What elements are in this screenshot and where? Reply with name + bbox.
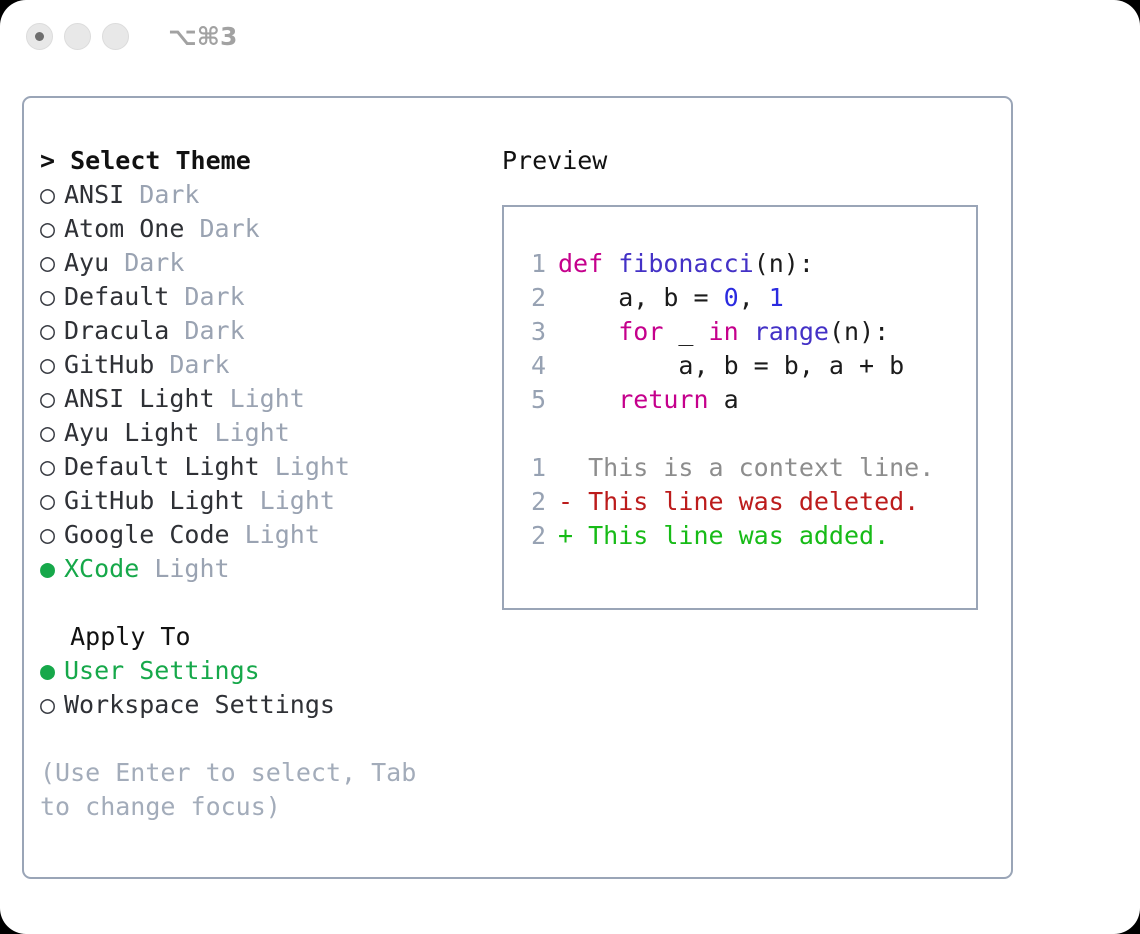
line-number: 5 [520,383,546,417]
code-token: (n): [829,317,889,346]
traffic-light-buttons [26,23,129,50]
diff-line-add: 2+ This line was added. [520,519,970,553]
theme-option-tag: Light [230,520,320,549]
select-theme-header: > Select Theme [40,144,480,178]
diff-sample: 1 This is a context line.2- This line wa… [520,451,970,553]
radio-unselected-icon: ○ [40,246,64,280]
select-theme-title-spacer [55,146,70,175]
theme-option-tag: Light [260,452,350,481]
theme-option-default-light[interactable]: ○Default Light Light [40,450,480,484]
line-number: 3 [520,315,546,349]
radio-selected-icon: ● [40,552,64,586]
radio-unselected-icon: ○ [40,212,64,246]
theme-option-label: GitHub [64,350,154,379]
theme-option-tag: Dark [169,282,244,311]
code-line: 4 a, b = b, a + b [520,349,970,383]
theme-option-label: Ayu Light [64,418,199,447]
main-panel: > Select Theme ○ANSI Dark○Atom One Dark○… [22,96,1013,879]
apply-option-label: User Settings [64,656,260,685]
theme-option-github[interactable]: ○GitHub Dark [40,348,480,382]
line-number: 1 [520,451,546,485]
theme-option-label: ANSI [64,180,124,209]
line-number: 1 [520,247,546,281]
line-number: 2 [520,485,546,519]
theme-option-tag: Dark [124,180,199,209]
caret-icon: > [40,146,55,175]
code-token: , [739,283,769,312]
radio-unselected-icon: ○ [40,280,64,314]
radio-unselected-icon: ○ [40,416,64,450]
active-indicator-icon [35,32,44,41]
apply-option-workspace-settings[interactable]: ○Workspace Settings [40,688,480,722]
diff-line-text: - This line was deleted. [558,487,919,516]
theme-option-tag: Light [139,554,229,583]
theme-option-atom-one[interactable]: ○Atom One Dark [40,212,480,246]
code-token: a, b = b, a + b [558,351,904,380]
preview-title: Preview [502,144,997,178]
preview-column: Preview [502,144,997,178]
diff-line-ctx: 1 This is a context line. [520,451,970,485]
line-number: 2 [520,281,546,315]
radio-unselected-icon: ○ [40,314,64,348]
code-token: 0 [724,283,739,312]
theme-option-ayu[interactable]: ○Ayu Dark [40,246,480,280]
code-token [739,317,754,346]
theme-option-label: Default Light [64,452,260,481]
radio-unselected-icon: ○ [40,518,64,552]
theme-option-google-code[interactable]: ○Google Code Light [40,518,480,552]
apply-option-user-settings[interactable]: ●User Settings [40,654,480,688]
code-token: in [709,317,739,346]
code-line: 2 a, b = 0, 1 [520,281,970,315]
theme-selector-column: > Select Theme ○ANSI Dark○Atom One Dark○… [40,144,480,824]
theme-option-label: Google Code [64,520,230,549]
radio-unselected-icon: ○ [40,348,64,382]
theme-option-label: GitHub Light [64,486,245,515]
code-line: 5 return a [520,383,970,417]
theme-option-ansi[interactable]: ○ANSI Dark [40,178,480,212]
section-spacer [40,586,480,620]
theme-option-label: XCode [64,554,139,583]
radio-unselected-icon: ○ [40,688,64,722]
theme-option-default[interactable]: ○Default Dark [40,280,480,314]
theme-option-label: ANSI Light [64,384,215,413]
code-token [558,385,618,414]
code-token: return [618,385,708,414]
code-line: 3 for _ in range(n): [520,315,970,349]
code-token: a, b = [558,283,724,312]
window-maximize-button[interactable] [102,23,129,50]
theme-list: ○ANSI Dark○Atom One Dark○Ayu Dark○Defaul… [40,178,480,586]
apply-to-header: Apply To [40,620,480,654]
code-token: fibonacci [618,249,753,278]
theme-option-github-light[interactable]: ○GitHub Light Light [40,484,480,518]
preview-box: 1def fibonacci(n):2 a, b = 0, 13 for _ i… [502,205,978,610]
theme-option-label: Default [64,282,169,311]
theme-option-label: Dracula [64,316,169,345]
theme-option-tag: Light [245,486,335,515]
code-token: _ [663,317,708,346]
code-preview-area: 1def fibonacci(n):2 a, b = 0, 13 for _ i… [520,247,970,553]
title-bar: ⌥⌘3 [0,0,1140,80]
apply-to-list: ●User Settings○Workspace Settings [40,654,480,722]
theme-option-tag: Dark [109,248,184,277]
app-window: ⌥⌘3 > Select Theme ○ANSI Dark○Atom One D… [0,0,1140,934]
theme-option-tag: Light [215,384,305,413]
radio-unselected-icon: ○ [40,178,64,212]
code-token [558,317,618,346]
diff-line-text: This is a context line. [558,453,934,482]
line-number: 2 [520,519,546,553]
radio-unselected-icon: ○ [40,484,64,518]
radio-selected-icon: ● [40,654,64,688]
diff-line-text: + This line was added. [558,521,889,550]
diff-line-del: 2- This line was deleted. [520,485,970,519]
apply-to-title: Apply To [70,622,190,651]
select-theme-title: Select Theme [70,146,251,175]
theme-option-dracula[interactable]: ○Dracula Dark [40,314,480,348]
theme-option-tag: Light [199,418,289,447]
code-token: a [709,385,739,414]
theme-option-tag: Dark [154,350,229,379]
window-minimize-button[interactable] [64,23,91,50]
apply-option-label: Workspace Settings [64,690,335,719]
code-token: range [754,317,829,346]
code-token: 1 [769,283,784,312]
code-token: for [618,317,663,346]
code-token: (n): [754,249,814,278]
keyboard-shortcut-label: ⌥⌘3 [168,22,237,51]
theme-option-label: Atom One [64,214,184,243]
theme-option-ansi-light[interactable]: ○ANSI Light Light [40,382,480,416]
window-close-button[interactable] [26,23,53,50]
code-diff-gap [520,417,970,451]
line-number: 4 [520,349,546,383]
apply-to-indent [40,622,70,651]
code-line: 1def fibonacci(n): [520,247,970,281]
radio-unselected-icon: ○ [40,382,64,416]
theme-option-tag: Dark [184,214,259,243]
radio-unselected-icon: ○ [40,450,64,484]
theme-option-ayu-light[interactable]: ○Ayu Light Light [40,416,480,450]
keyboard-hint: (Use Enter to select, Tab to change focu… [40,756,460,824]
theme-option-xcode[interactable]: ●XCode Light [40,552,480,586]
code-sample: 1def fibonacci(n):2 a, b = 0, 13 for _ i… [520,247,970,417]
theme-option-tag: Dark [169,316,244,345]
code-token: def [558,249,618,278]
theme-option-label: Ayu [64,248,109,277]
